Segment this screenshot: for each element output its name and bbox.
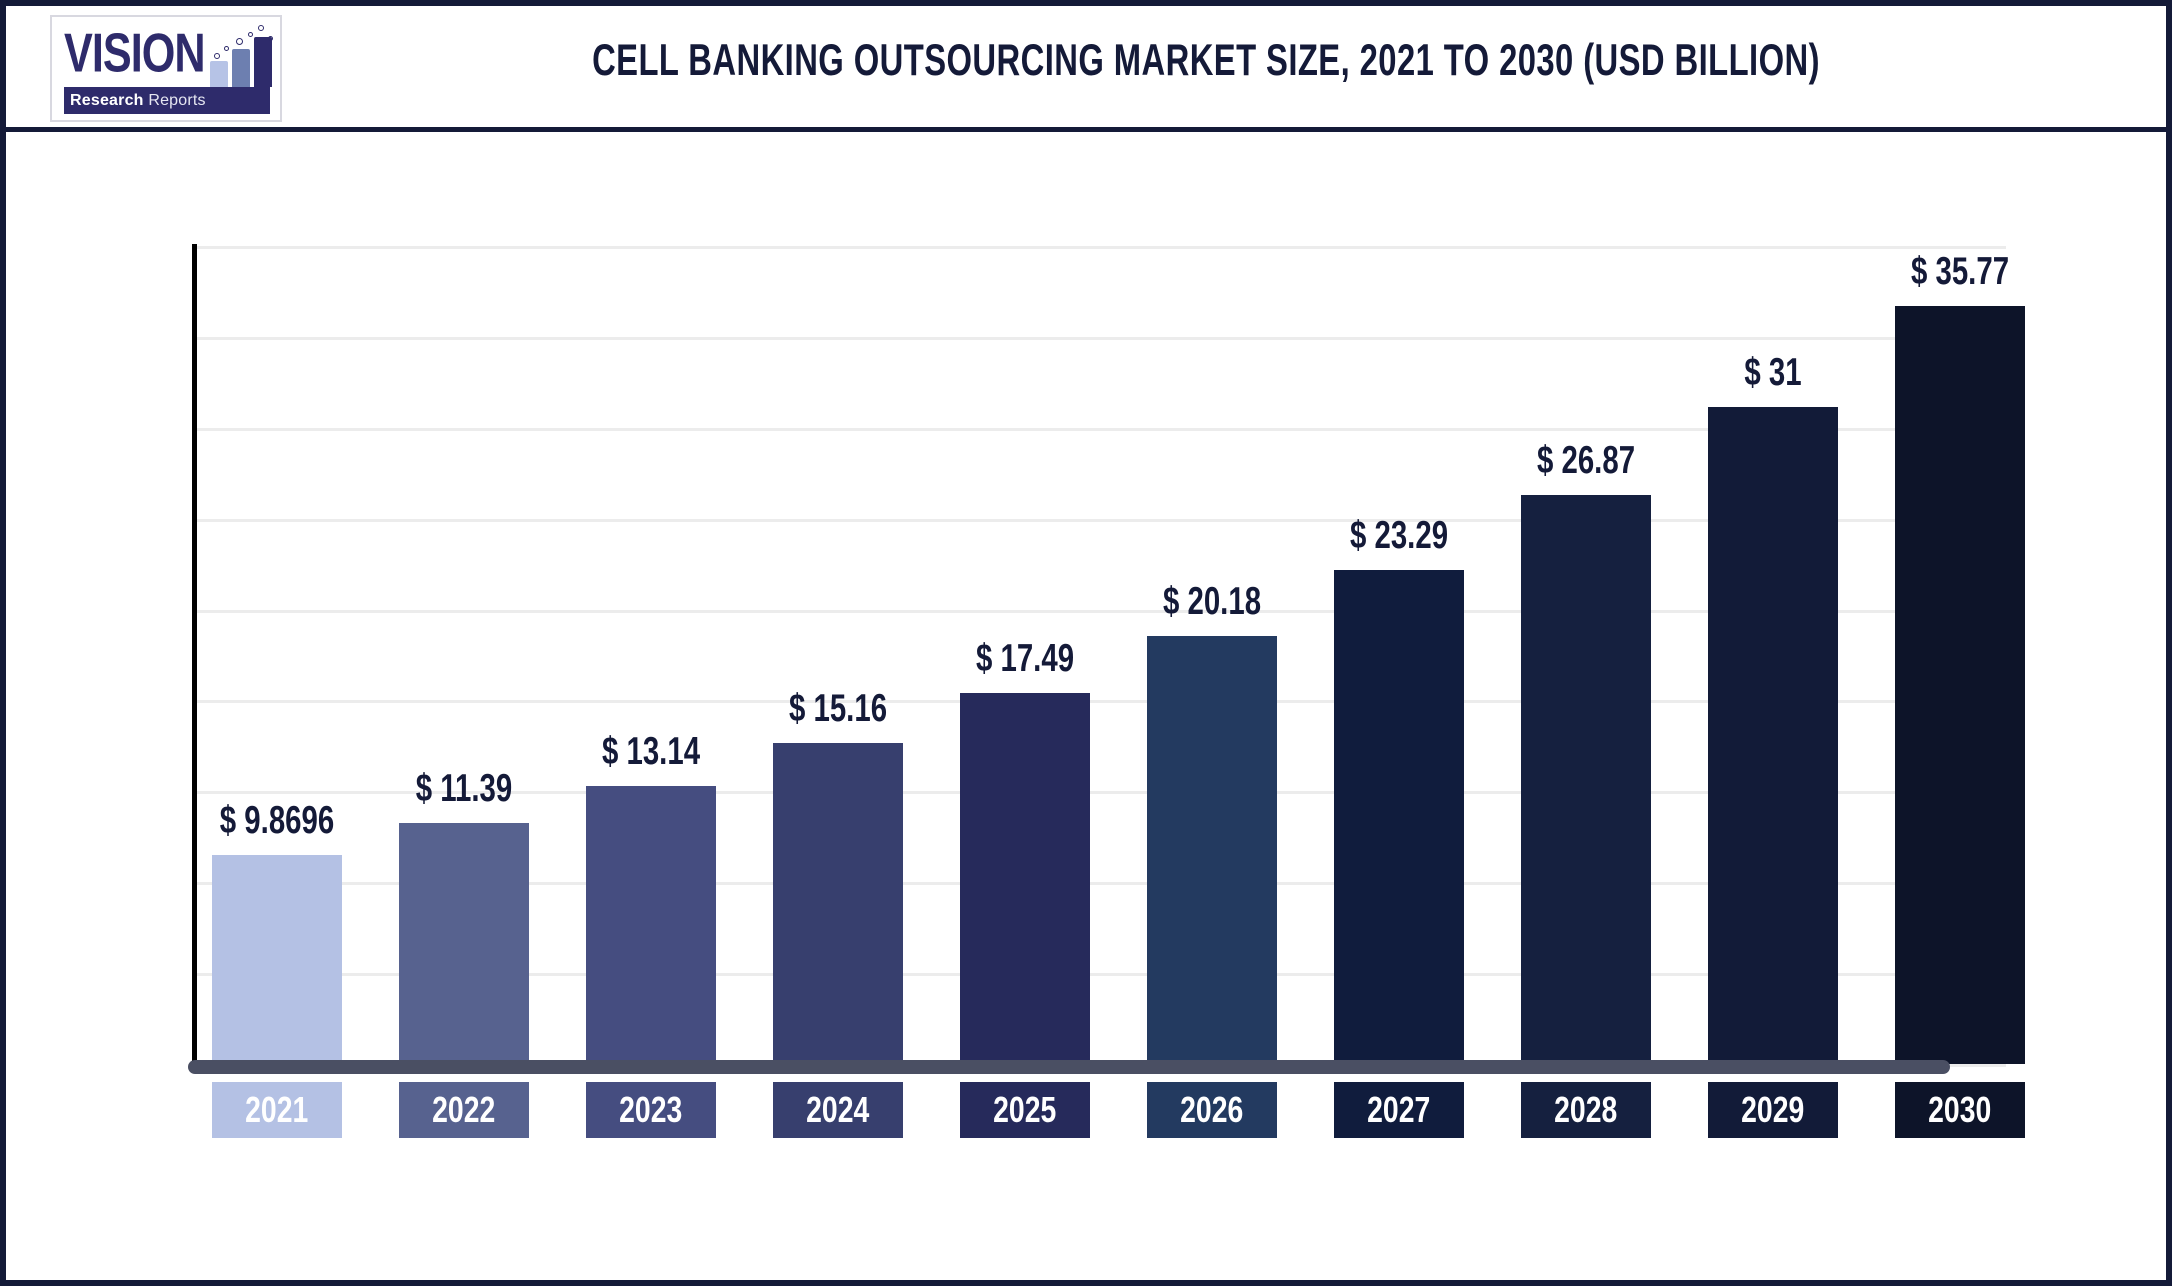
bar[interactable] [399,823,529,1064]
logo-bubble-icon [224,46,229,51]
x-axis-label-2022[interactable]: 2022 [399,1082,529,1138]
x-axis-label-text: 2026 [1180,1079,1243,1141]
x-axis-label-text: 2027 [1367,1079,1430,1141]
chart-baseline [188,1060,1950,1074]
chart-plot-area: $ 9.8696$ 11.39$ 13.14$ 15.16$ 17.49$ 20… [6,132,2166,1280]
logo-bar-mid-icon [232,49,250,87]
bar-value-label: $ 9.8696 [220,799,334,843]
x-axis-label-2030[interactable]: 2030 [1895,1082,2025,1138]
logo-bubble-icon [236,38,243,45]
logo-tagline: Research Reports [64,87,270,114]
logo-bubble-icon [248,32,253,37]
x-axis-label-2025[interactable]: 2025 [960,1082,1090,1138]
bar[interactable] [1708,407,1838,1064]
bar-group: $ 15.16 [773,132,903,1064]
bar-value-label: $ 26.87 [1537,439,1635,483]
bar-group: $ 31 [1708,132,1838,1064]
logo-bar-dark-icon [254,37,272,87]
bar[interactable] [1895,306,2025,1064]
logo-bar-light-icon [210,61,228,87]
bar-group: $ 26.87 [1521,132,1651,1064]
bar[interactable] [586,786,716,1064]
x-axis-label-2029[interactable]: 2029 [1708,1082,1838,1138]
x-axis-label-2024[interactable]: 2024 [773,1082,903,1138]
bar-group: $ 23.29 [1334,132,1464,1064]
chart-page: VISION Research Reports CELL BANKING OUT… [0,0,2172,1286]
vision-research-reports-logo: VISION Research Reports [50,15,282,122]
chart-bars: $ 9.8696$ 11.39$ 13.14$ 15.16$ 17.49$ 20… [194,132,2006,1064]
logo-bubble-icon [214,53,220,59]
bar[interactable] [1147,636,1277,1064]
logo-bubble-icon [268,36,273,41]
bar-value-label: $ 23.29 [1350,514,1448,558]
bar-value-label: $ 17.49 [976,637,1074,681]
bar[interactable] [1334,570,1464,1064]
logo-bubble-icon [258,25,264,31]
x-axis-label-2023[interactable]: 2023 [586,1082,716,1138]
x-axis-label-text: 2021 [245,1079,308,1141]
bar-value-label: $ 31 [1744,351,1801,395]
page-title: CELL BANKING OUTSOURCING MARKET SIZE, 20… [452,36,1961,86]
bar-value-label: $ 15.16 [789,687,887,731]
x-axis-label-2028[interactable]: 2028 [1521,1082,1651,1138]
x-axis-label-2026[interactable]: 2026 [1147,1082,1277,1138]
bar-value-label: $ 11.39 [416,767,512,811]
bar-group: $ 13.14 [586,132,716,1064]
logo-tagline-bold: Research [70,92,144,109]
x-axis-label-text: 2024 [806,1079,869,1141]
bar[interactable] [212,855,342,1064]
bar-group: $ 20.18 [1147,132,1277,1064]
logo-tagline-light: Reports [148,92,205,109]
bar-group: $ 11.39 [399,132,529,1064]
x-axis-label-text: 2023 [619,1079,682,1141]
bar-group: $ 9.8696 [212,132,342,1064]
x-axis-label-text: 2028 [1554,1079,1617,1141]
x-axis-label-2021[interactable]: 2021 [212,1082,342,1138]
x-axis-label-text: 2030 [1928,1079,1991,1141]
x-axis-label-text: 2025 [993,1079,1056,1141]
bar-group: $ 17.49 [960,132,1090,1064]
bar-value-label: $ 35.77 [1911,250,2009,294]
x-axis-label-2027[interactable]: 2027 [1334,1082,1464,1138]
bar[interactable] [960,693,1090,1064]
bar-value-label: $ 13.14 [602,730,700,774]
bar[interactable] [1521,495,1651,1064]
logo-wordmark: VISION [64,25,205,81]
chart-x-axis-labels: 2021202220232024202520262027202820292030 [194,1082,2006,1142]
page-header: VISION Research Reports CELL BANKING OUT… [6,6,2166,132]
x-axis-label-text: 2022 [432,1079,495,1141]
bar[interactable] [773,743,903,1064]
x-axis-label-text: 2029 [1741,1079,1804,1141]
bar-value-label: $ 20.18 [1163,580,1261,624]
bar-group: $ 35.77 [1895,132,2025,1064]
